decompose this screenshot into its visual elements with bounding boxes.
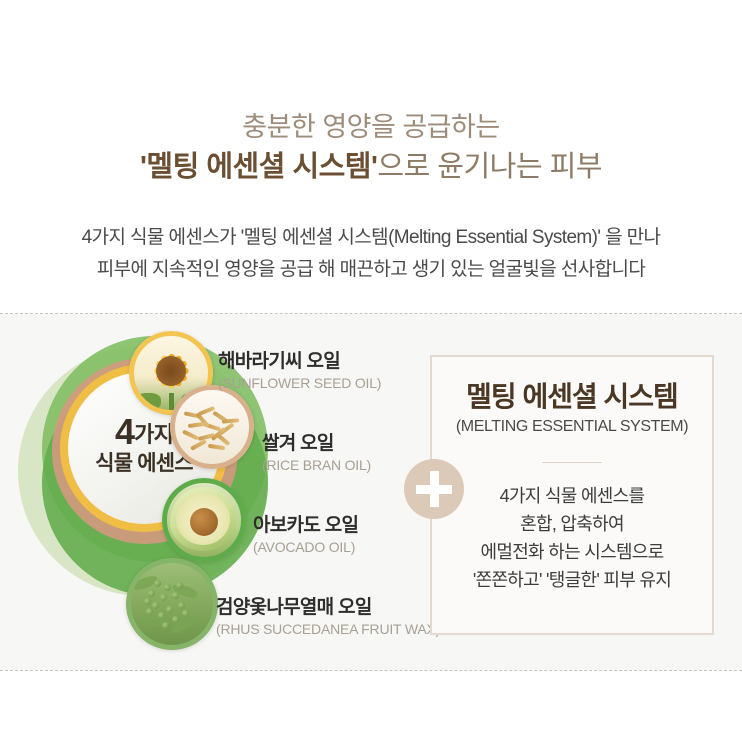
system-description: 4가지 식물 에센스를 혼합, 압축하여 에멀전화 하는 시스템으로 '쫀쫀하고… <box>432 482 712 594</box>
ingredient-name-kr: 해바라기씨 오일 <box>218 350 381 373</box>
header-section: 충분한 영양을 공급하는 '멜팅 에센셜 시스템'으로 윤기나는 피부 4가지 … <box>0 0 742 313</box>
ingredient-name-en: (RHUS SUCCEDANEA FRUIT WAX) <box>216 620 440 639</box>
ingredient-name-en: (SUNFLOWER SEED OIL) <box>218 374 381 393</box>
ingredient-label-rice-bran: 쌀겨 오일 (RICE BRAN OIL) <box>262 432 371 475</box>
system-description-line-2: 혼합, 압축하여 <box>432 510 712 538</box>
headline-rest: 으로 윤기나는 피부 <box>377 151 602 183</box>
headline-emphasis: '멜팅 에센셜 시스템' <box>140 151 377 183</box>
system-title: 멜팅 에센셜 시스템 <box>432 380 712 414</box>
ingredient-name-en: (RICE BRAN OIL) <box>262 456 371 475</box>
system-description-line-3: 에멀전화 하는 시스템으로 <box>432 538 712 566</box>
ingredient-name-kr: 쌀겨 오일 <box>262 432 371 455</box>
core-number: 4 <box>115 411 134 452</box>
ingredient-label-rhus: 검양옻나무열매 오일 (RHUS SUCCEDANEA FRUIT WAX) <box>216 596 440 639</box>
system-description-line-1: 4가지 식물 에센스를 <box>432 482 712 510</box>
subheadline-line-1: 4가지 식물 에센스가 '멜팅 에센셜 시스템(Melting Essentia… <box>0 222 742 254</box>
rhus-fruit-icon <box>126 558 218 650</box>
subheadline-line-2: 피부에 지속적인 영양을 공급 해 매끈하고 생기 있는 얼굴빛을 선사합니다 <box>0 254 742 286</box>
melting-essential-system-box: 멜팅 에센셜 시스템 (MELTING ESSENTIAL SYSTEM) 4가… <box>430 355 714 635</box>
divider-bottom <box>0 670 742 671</box>
ingredient-bubble-rhus <box>126 558 218 650</box>
ingredient-name-en: (AVOCADO OIL) <box>253 538 358 557</box>
ingredient-bubble-avocado <box>162 478 246 562</box>
plus-icon <box>404 459 464 519</box>
essence-rings-diagram: 4가지 식물 에센스 <box>0 314 420 670</box>
core-label-line-1: 4가지 <box>115 419 173 448</box>
ingredient-name-kr: 아보카도 오일 <box>253 514 358 537</box>
ingredient-name-kr: 검양옻나무열매 오일 <box>216 596 440 619</box>
headline-line-1: 충분한 영양을 공급하는 <box>0 110 742 144</box>
rice-bran-icon <box>170 385 254 469</box>
body-panel: 4가지 식물 에센스 <box>0 314 742 670</box>
avocado-icon <box>162 478 246 562</box>
core-unit: 가지 <box>134 422 173 447</box>
infographic-page: 충분한 영양을 공급하는 '멜팅 에센셜 시스템'으로 윤기나는 피부 4가지 … <box>0 0 742 742</box>
system-description-line-4: '쫀쫀하고' '탱글한' 피부 유지 <box>432 566 712 594</box>
system-divider <box>542 462 602 463</box>
subheadline: 4가지 식물 에센스가 '멜팅 에센셜 시스템(Melting Essentia… <box>0 222 742 286</box>
ingredient-label-avocado: 아보카도 오일 (AVOCADO OIL) <box>253 514 358 557</box>
ingredient-label-sunflower: 해바라기씨 오일 (SUNFLOWER SEED OIL) <box>218 350 381 393</box>
system-subtitle: (MELTING ESSENTIAL SYSTEM) <box>432 416 712 438</box>
ingredient-bubble-rice-bran <box>170 385 254 469</box>
headline-line-2: '멜팅 에센셜 시스템'으로 윤기나는 피부 <box>0 148 742 186</box>
